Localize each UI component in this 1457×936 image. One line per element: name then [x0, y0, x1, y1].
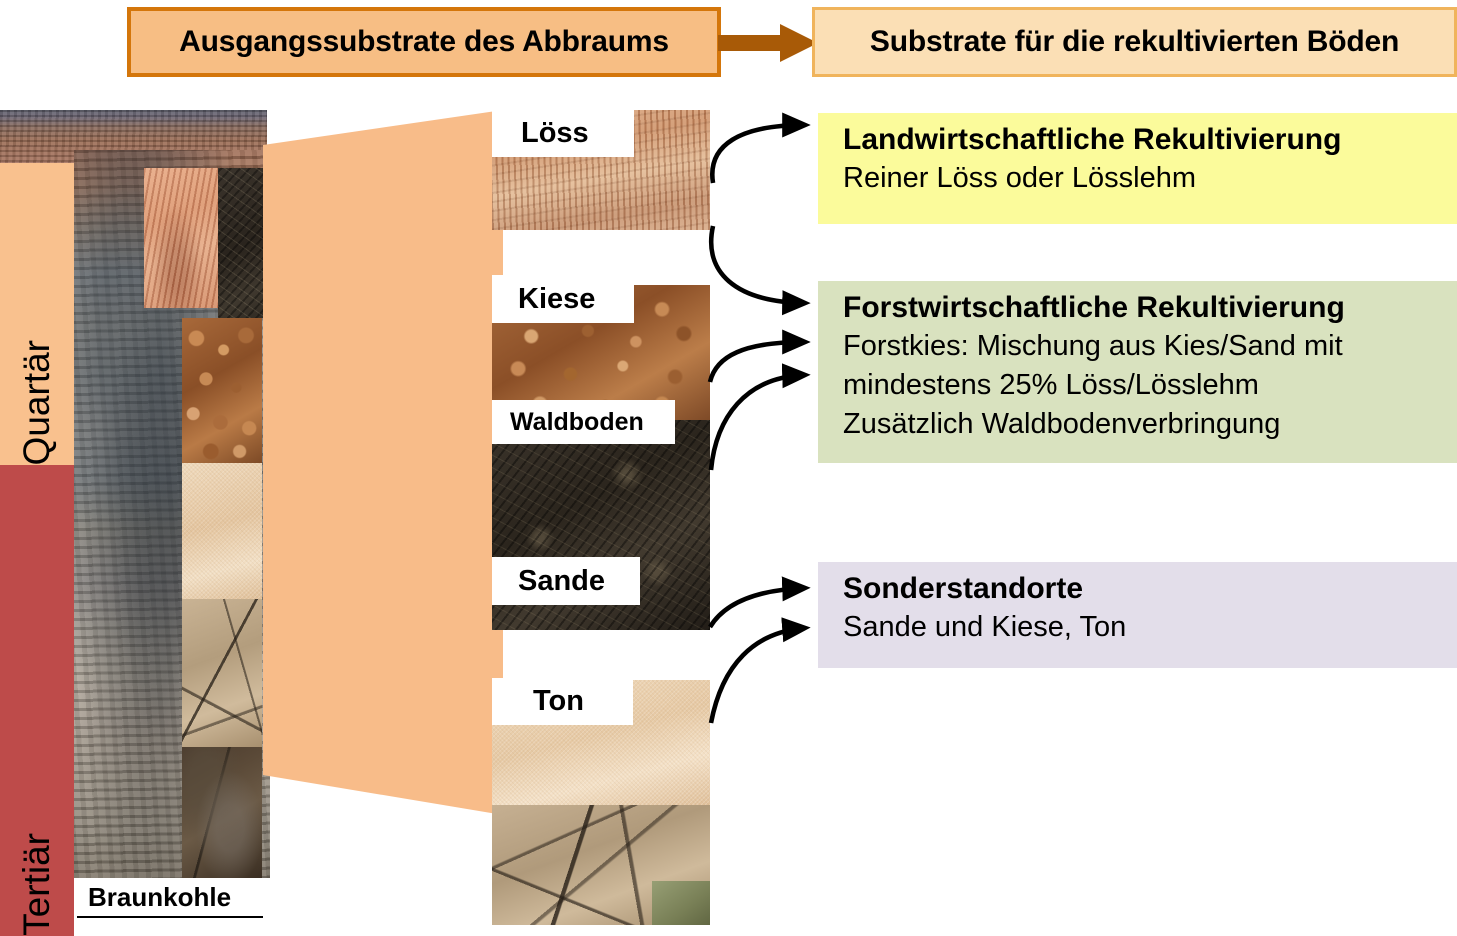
label-braunkohle: Braunkohle — [77, 878, 263, 918]
arrow-loess-to-forstwirtschaftliche — [711, 226, 805, 303]
substrate-label-sande-text: Sande — [518, 565, 605, 598]
diagram-canvas: Ausgangssubstrate des Abbraums Substrate… — [0, 0, 1457, 936]
substrate-label-ton: Ton — [492, 678, 633, 725]
sand-sample-photo — [182, 463, 262, 599]
loess-sample-photo — [144, 168, 218, 308]
substrate-label-loess: Löss — [492, 110, 634, 157]
lignite-sample-photo — [182, 747, 262, 878]
result-line-forstwirtschaftliche-2: Zusätzlich Waldbodenverbringung — [843, 405, 1457, 444]
result-title-sonderstandorte: Sonderstandorte — [843, 570, 1457, 608]
arrow-ton-to-sonderstandorte — [711, 628, 805, 723]
funnel-shape — [258, 100, 503, 825]
header-box-source-substrates: Ausgangssubstrate des Abbraums — [127, 7, 721, 77]
substrate-label-kiese-text: Kiese — [518, 283, 595, 316]
arrow-waldboden-to-forstwirtschaftliche — [711, 375, 805, 470]
era-label-quartaer: Quartär — [16, 326, 58, 465]
header-right-label: Substrate für die rekultivierten Böden — [870, 25, 1399, 59]
era-label-tertiaer: Tertiär — [16, 819, 58, 936]
substrate-label-sande: Sande — [492, 557, 640, 605]
arrow-sande-to-sonderstandorte — [710, 588, 805, 627]
result-line-forstwirtschaftliche-1: mindestens 25% Löss/Lösslehm — [843, 366, 1457, 405]
thick-right-arrow-icon — [718, 24, 818, 62]
result-box-sonderstandorte: Sonderstandorte Sande und Kiese, Ton — [818, 562, 1457, 668]
substrate-label-kiese: Kiese — [492, 275, 634, 323]
arrow-kiese-to-forstwirtschaftliche — [710, 342, 805, 382]
braunkohle-text: Braunkohle — [88, 882, 231, 913]
substrate-label-loess-text: Löss — [521, 117, 589, 150]
clay-photo — [492, 805, 710, 925]
arrow-loess-to-landwirtschaftliche — [712, 125, 805, 183]
era-band-quartaer: Quartär — [0, 163, 74, 465]
result-box-landwirtschaftliche: Landwirtschaftliche Rekultivierung Reine… — [818, 113, 1457, 224]
result-line-sonderstandorte-0: Sande und Kiese, Ton — [843, 608, 1457, 647]
result-line-forstwirtschaftliche-0: Forstkies: Mischung aus Kies/Sand mit — [843, 327, 1457, 366]
result-title-forstwirtschaftliche: Forstwirtschaftliche Rekultivierung — [843, 289, 1457, 327]
clay-sample-photo — [182, 599, 262, 747]
header-box-recultivation-substrates: Substrate für die rekultivierten Böden — [812, 7, 1457, 77]
result-line-landwirtschaftliche-0: Reiner Löss oder Lösslehm — [843, 159, 1457, 198]
substrate-label-waldboden: Waldboden — [492, 400, 675, 444]
gravel-sample-photo — [182, 318, 262, 463]
era-band-tertiaer: Tertiär — [0, 465, 74, 936]
header-left-label: Ausgangssubstrate des Abbraums — [179, 25, 669, 59]
result-title-landwirtschaftliche: Landwirtschaftliche Rekultivierung — [843, 121, 1457, 159]
substrate-label-ton-text: Ton — [533, 685, 584, 718]
result-box-forstwirtschaftliche: Forstwirtschaftliche Rekultivierung Fors… — [818, 281, 1457, 463]
substrate-label-waldboden-text: Waldboden — [510, 408, 644, 437]
